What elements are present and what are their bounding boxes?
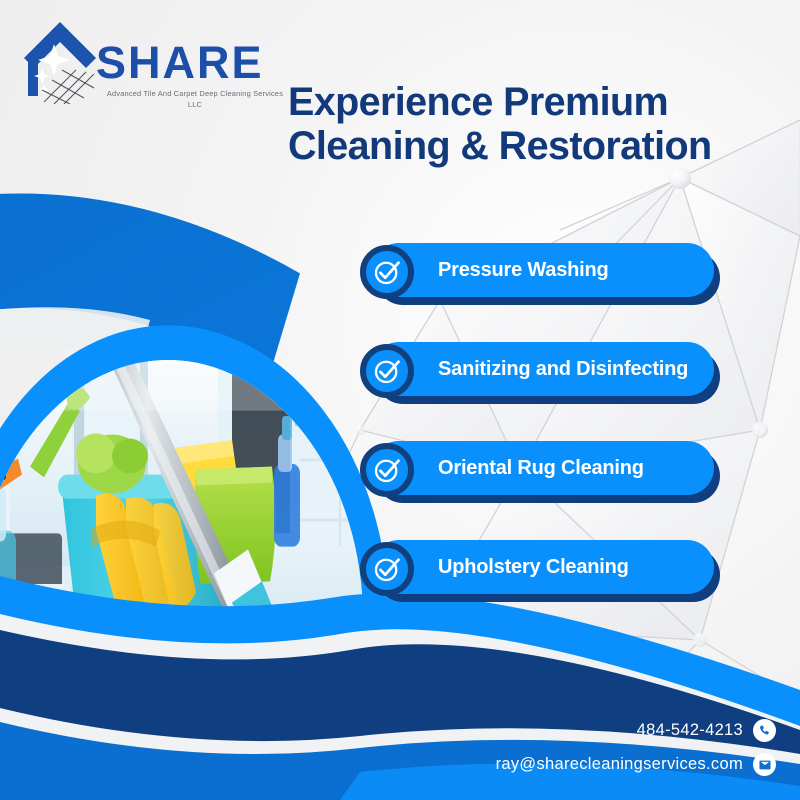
service-item-oriental-rug-cleaning[interactable]: Oriental Rug Cleaning	[360, 441, 720, 503]
brand-wordmark: SHARE	[96, 40, 264, 85]
pill-body[interactable]: Upholstery Cleaning	[372, 540, 714, 594]
service-label: Sanitizing and Disinfecting	[438, 358, 688, 381]
pill-body[interactable]: Oriental Rug Cleaning	[372, 441, 714, 495]
email-address: ray@sharecleaningservices.com	[496, 755, 743, 774]
headline-line-1: Experience Premium	[288, 80, 668, 124]
pill-body[interactable]: Pressure Washing	[372, 243, 714, 297]
contact-email-row[interactable]: ray@sharecleaningservices.com	[496, 753, 776, 776]
brand-tagline: Advanced Tile And Carpet Deep Cleaning S…	[100, 88, 290, 110]
contact-phone-row[interactable]: 484-542-4213	[496, 719, 776, 742]
envelope-icon	[753, 753, 776, 776]
check-circle-icon	[360, 443, 414, 497]
service-label: Oriental Rug Cleaning	[438, 457, 644, 480]
brand-logo: SHARE Advanced Tile And Carpet Deep Clea…	[14, 18, 282, 118]
service-item-upholstery-cleaning[interactable]: Upholstery Cleaning	[360, 540, 720, 602]
service-label: Upholstery Cleaning	[438, 556, 629, 579]
headline-line-2: Cleaning & Restoration	[288, 124, 768, 168]
check-circle-icon	[360, 245, 414, 299]
house-sparkle-tile-icon	[14, 18, 100, 104]
phone-icon	[753, 719, 776, 742]
contact-block: 484-542-4213 ray@sharecleaningservices.c…	[496, 719, 776, 776]
check-circle-icon	[360, 542, 414, 596]
service-item-pressure-washing[interactable]: Pressure Washing	[360, 243, 720, 305]
page-title: Experience Premium Cleaning & Restoratio…	[288, 80, 768, 168]
service-label: Pressure Washing	[438, 259, 609, 282]
pill-body[interactable]: Sanitizing and Disinfecting	[372, 342, 714, 396]
phone-number: 484-542-4213	[637, 721, 743, 740]
service-item-sanitizing-and-disinfecting[interactable]: Sanitizing and Disinfecting	[360, 342, 720, 404]
poster-canvas: SHARE Advanced Tile And Carpet Deep Clea…	[0, 0, 800, 800]
check-circle-icon	[360, 344, 414, 398]
